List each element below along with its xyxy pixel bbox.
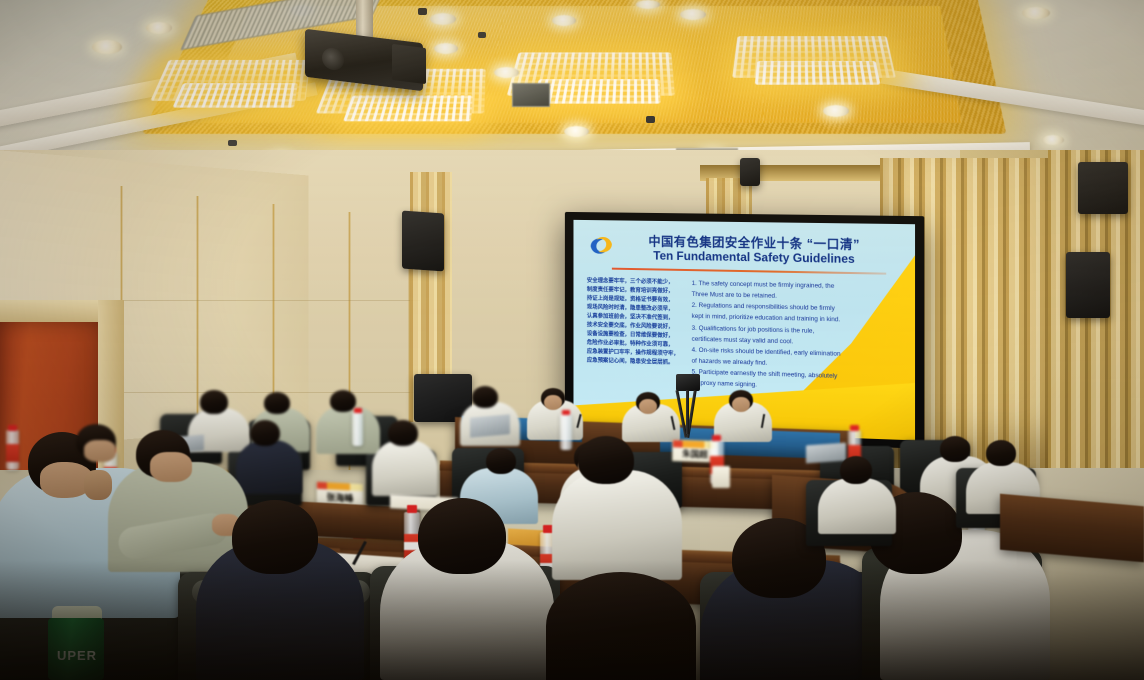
laptop[interactable] [806,443,846,464]
bottle-cap [562,410,570,415]
wall-speaker [1078,162,1128,214]
downlight [823,105,849,117]
ceiling-sensor [478,32,486,38]
downlight [92,40,122,54]
ceiling-vent-grille [512,83,550,107]
slide-english-column: 1. The safety concept must be firmly ing… [692,278,909,396]
tripod-leg [686,390,689,434]
video-camera [676,374,700,391]
attendee-head [986,440,1016,466]
attendee-head [264,392,290,414]
gold-crystal-chandelier-tier [172,83,297,107]
attendee-body [372,440,438,496]
bottle-cap [8,425,17,431]
paper-cup [712,466,730,488]
water-bottle [352,412,363,446]
slide-divider-line [612,268,886,275]
attendee-head [200,390,228,414]
attendee-body [818,478,896,534]
water-bottle [560,414,572,450]
ceiling-sensor [228,140,237,146]
bottle-cap [712,435,721,441]
photo-bottom-shadow [0,560,1144,680]
foreground-attendee-ear [84,470,112,500]
bottle-label [6,444,19,462]
china-nonferrous-metal-group-logo [589,235,614,257]
downlight [146,22,172,34]
attendee-body [316,406,380,454]
ceiling-sensor [646,116,655,123]
wall-speaker [740,158,760,186]
downlight [1022,7,1050,19]
wall-speaker [1066,252,1110,318]
laptop[interactable] [470,414,510,437]
attendee-head [486,448,516,474]
attendee-head [388,420,418,446]
downlight [636,0,660,9]
attendee-head [250,420,280,446]
attendee-face [84,440,116,462]
gold-crystal-chandelier-tier [533,79,661,103]
water-bottle [6,430,19,470]
presenter-face [732,397,750,412]
presenter-face [544,395,562,410]
downlight [680,9,706,20]
downlight [564,126,589,137]
wall-speaker [402,211,444,272]
conference-room-photo: 中国有色集团安全作业十条 “一口清” Ten Fundamental Safet… [0,0,1144,680]
downlight [430,13,456,25]
attendee-head [472,386,498,408]
downlight [434,43,458,54]
attendee-head [330,390,356,412]
bottle-cap [407,505,417,513]
foreground-attendee-face [150,452,192,482]
ceiling-sensor [418,8,427,15]
attendee-head [840,456,872,484]
bottle-cap [850,425,859,431]
gold-crystal-chandelier-tier [755,61,881,85]
downlight [494,67,519,78]
presenter-face [639,399,657,414]
downlight [552,15,576,26]
bottle-cap [354,408,362,413]
projector-rear-housing [392,44,426,84]
gold-crystal-chandelier-tier [343,95,473,121]
downlight [1042,135,1064,145]
attendee-head [578,436,634,484]
slide-chinese-column: 安全理念要牢牢，三个必须不能少， 制度责任要牢记，教育培训亮做好， 持证上岗是规… [587,277,684,369]
attendee-head [940,436,970,462]
attendee-body [236,440,302,494]
slide-title-english: Ten Fundamental Safety Guidelines [620,248,891,267]
slide-cn-line: 应急预案记心间，隐患安全层层抓。 [587,357,684,369]
